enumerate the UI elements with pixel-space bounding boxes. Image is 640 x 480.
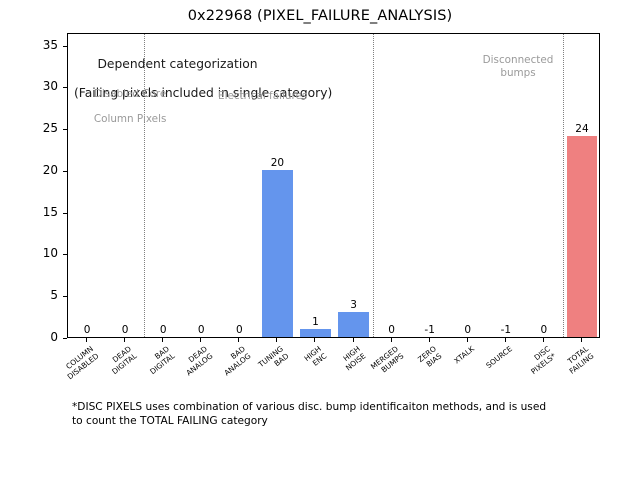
annotation-disabled-core-line1: Disabled Core [94,88,167,100]
category-separator-line [373,34,374,337]
bar [567,136,597,337]
annotation-disconnected-line2: bumps [500,67,535,79]
x-tick-mark [429,338,430,342]
x-tick-mark [86,338,87,342]
chart-title: 0x22968 (PIXEL_FAILURE_ANALYSIS) [0,8,640,24]
bar [262,170,292,337]
x-tick-mark [124,338,125,342]
annotation-dependent-line1: Dependent categorization [97,57,257,71]
bar-value-label: 0 [209,324,269,336]
x-tick-mark [200,338,201,342]
x-tick-mark [162,338,163,342]
x-tick-mark [276,338,277,342]
annotation-disconnected-bumps: Disconnected bumps [438,54,598,79]
y-tick-label: 5 [50,288,58,302]
x-tick-mark [581,338,582,342]
plot-area: 0000020130-10-1024 Dependent categorizat… [67,33,600,338]
bar-value-label: 1 [285,316,345,328]
annotation-disabled-core-column-pixels: Disabled Core Column Pixels [74,75,166,138]
x-tick-label-line1: SOURCE [484,344,514,370]
y-tick-label: 20 [43,163,58,177]
annotation-electrical-failures: Electrical failures [218,89,307,104]
x-tick-mark [391,338,392,342]
annotation-disconnected-line1: Disconnected [483,54,554,66]
y-tick-label: 35 [43,38,58,52]
y-tick-label: 25 [43,121,58,135]
chart-figure: 0x22968 (PIXEL_FAILURE_ANALYSIS) Number … [0,0,640,480]
footnote-line1: *DISC PIXELS uses combination of various… [72,400,592,414]
y-tick-label: 15 [43,205,58,219]
x-tick-mark [543,338,544,342]
bar [300,329,330,337]
bar-value-label: 0 [514,324,574,336]
bar-value-label: 20 [247,157,307,169]
y-tick-label: 10 [43,246,58,260]
y-tick-mark [63,338,67,339]
x-tick-mark [505,338,506,342]
annotation-disabled-core-line2: Column Pixels [94,113,167,125]
x-tick-mark [467,338,468,342]
bar-value-label: 24 [552,123,612,135]
x-tick-mark [353,338,354,342]
footnote-line2: to count the TOTAL FAILING category [72,414,592,428]
category-separator-line [563,34,564,337]
bar-value-label: 3 [324,299,384,311]
x-tick-mark [314,338,315,342]
x-tick-mark [238,338,239,342]
y-tick-label: 30 [43,79,58,93]
x-tick-label-line1: XTALK [452,344,476,365]
chart-footnote: *DISC PIXELS uses combination of various… [72,400,592,428]
